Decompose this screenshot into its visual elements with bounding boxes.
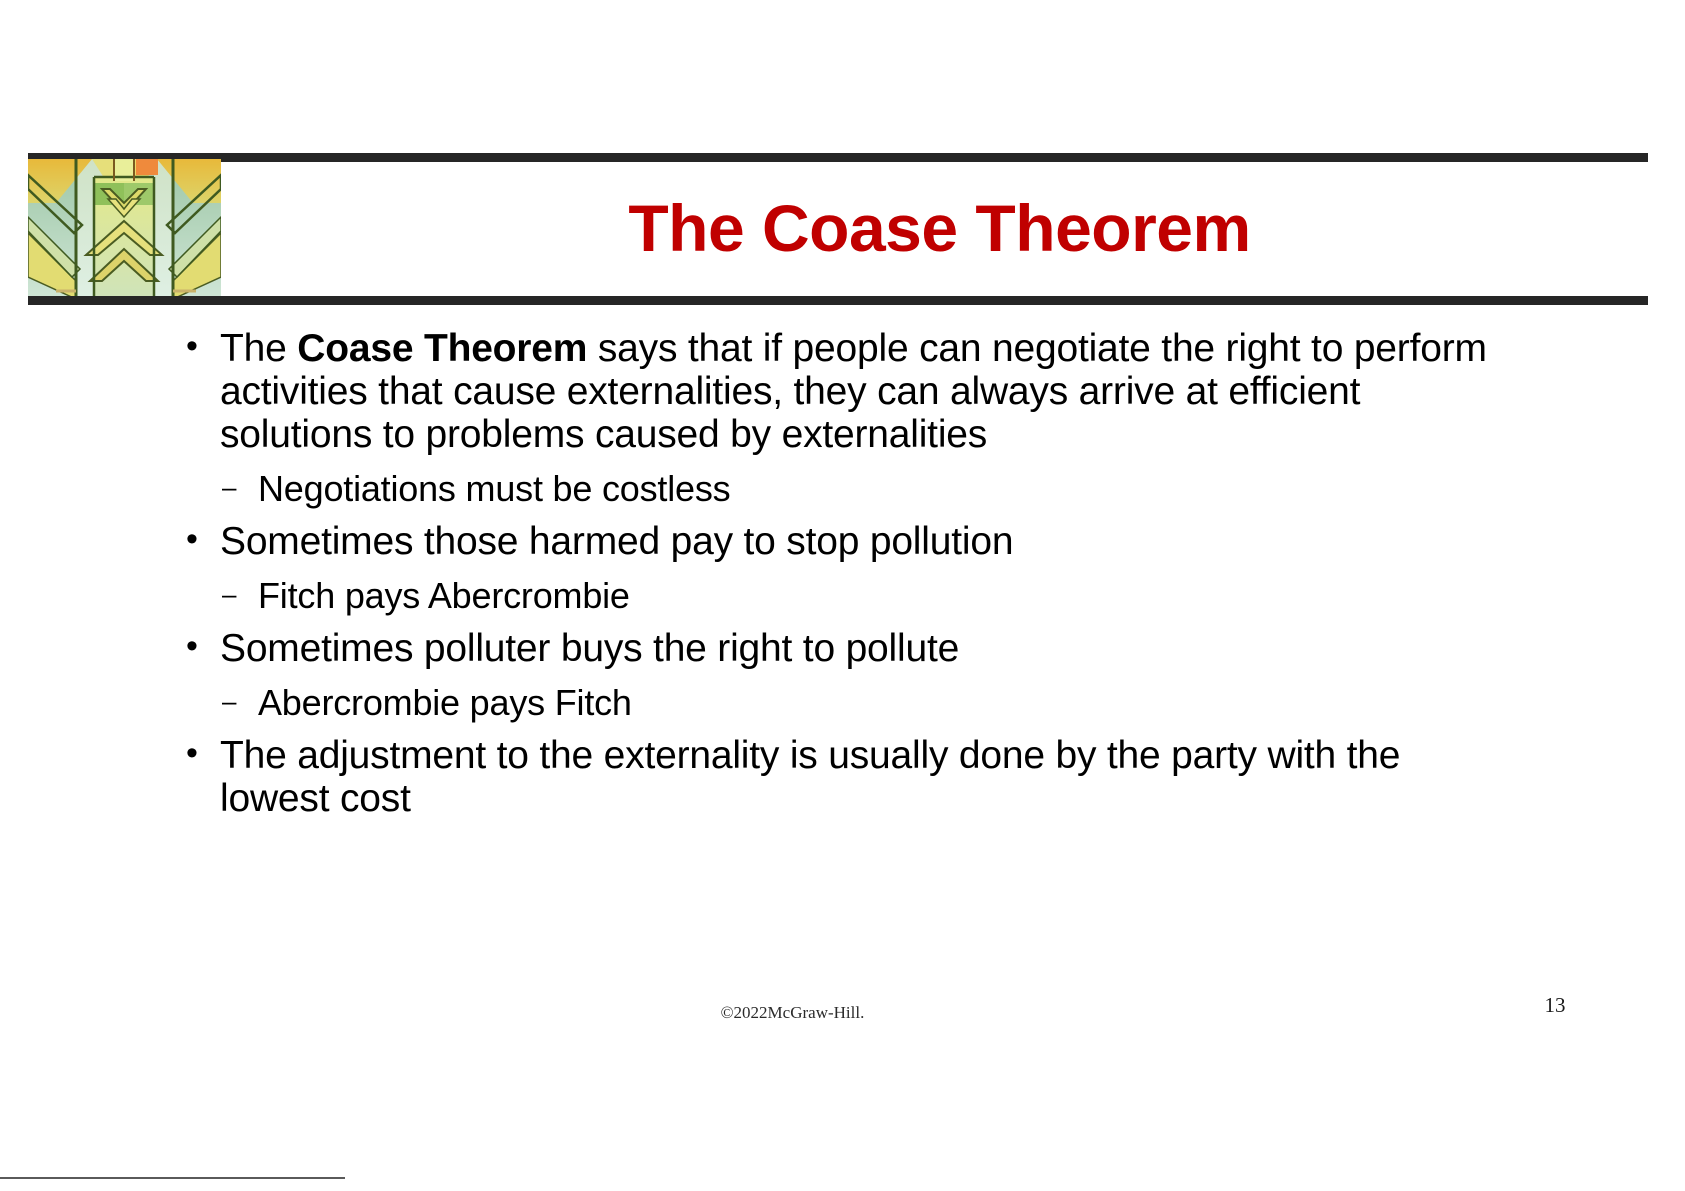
list-item-text: The adjustment to the externality is usu… (220, 734, 1400, 820)
list-item-text: Sometimes polluter buys the right to pol… (220, 627, 959, 670)
list-item: • The adjustment to the externality is u… (180, 735, 1510, 821)
bullet-marker-icon: • (186, 734, 198, 773)
list-item-text: Negotiations must be costless (258, 468, 730, 509)
list-item-text-bold: Coase Theorem (297, 327, 587, 370)
slide-header: The Coase Theorem (28, 153, 1648, 305)
bullet-marker-icon: • (186, 520, 198, 559)
bullet-marker-icon: • (186, 327, 198, 366)
page-title: The Coase Theorem (221, 159, 1648, 299)
subbullet-marker-icon: – (222, 683, 236, 721)
list-item: – Abercrombie pays Fitch (180, 683, 1510, 723)
bullet-list: • The Coase Theorem says that if people … (180, 328, 1510, 821)
subbullet-marker-icon: – (222, 469, 236, 507)
list-item: – Negotiations must be costless (180, 469, 1510, 509)
bottom-edge-rule (0, 1177, 345, 1179)
copyright-text: ©2022McGraw-Hill. (721, 1003, 865, 1022)
list-item-text: Sometimes those harmed pay to stop pollu… (220, 520, 1013, 563)
page-number: 13 (1525, 993, 1585, 1018)
prairie-stained-glass-decoration-icon (28, 159, 221, 299)
copyright-notice: ©2022McGraw-Hill. (0, 1003, 1685, 1023)
header-bottom-rule (28, 296, 1648, 305)
list-item-text-lead: The (220, 327, 297, 370)
list-item-text: Fitch pays Abercrombie (258, 575, 630, 616)
list-item: • Sometimes polluter buys the right to p… (180, 628, 1510, 671)
list-item: • Sometimes those harmed pay to stop pol… (180, 521, 1510, 564)
subbullet-marker-icon: – (222, 576, 236, 614)
list-item-text: Abercrombie pays Fitch (258, 682, 632, 723)
slide-canvas: The Coase Theorem • The Coase Theorem sa… (0, 0, 1685, 1191)
list-item: – Fitch pays Abercrombie (180, 576, 1510, 616)
page-title-text: The Coase Theorem (628, 194, 1250, 263)
slide-body: • The Coase Theorem says that if people … (180, 328, 1510, 823)
bullet-marker-icon: • (186, 627, 198, 666)
list-item-text: The Coase Theorem says that if people ca… (220, 327, 1487, 456)
list-item: • The Coase Theorem says that if people … (180, 328, 1510, 457)
